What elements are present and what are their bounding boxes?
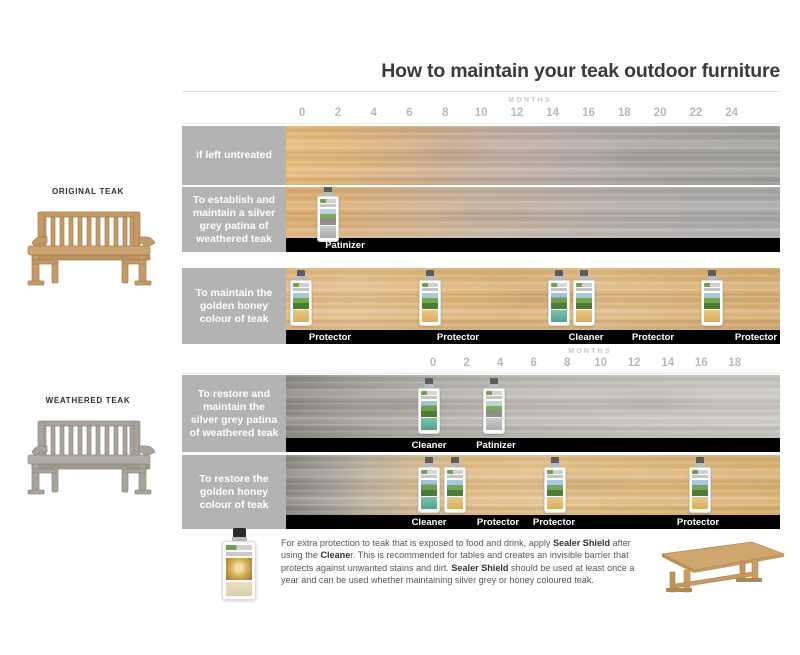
label-photo bbox=[293, 293, 309, 309]
footer-emphasis: Cleane bbox=[320, 550, 350, 560]
label-footer-band bbox=[551, 310, 567, 322]
axis-tick-20: 20 bbox=[654, 107, 667, 119]
label-footer-band bbox=[226, 582, 252, 596]
axis-tick-12: 12 bbox=[628, 357, 641, 369]
label-photo bbox=[551, 293, 567, 309]
row-label-restore-honey: To restore the golden honey colour of te… bbox=[182, 455, 286, 529]
axis-ticks-2: 024681012141618 bbox=[0, 357, 800, 373]
product-bottle-protector-4[interactable] bbox=[701, 270, 723, 330]
product-label-protector-5: Protector bbox=[477, 517, 519, 528]
axis-tick-0: 0 bbox=[299, 107, 305, 119]
product-title-line bbox=[421, 396, 437, 399]
timeline-row-establish-grey: To establish and maintain a silver grey … bbox=[182, 187, 780, 252]
timeline-row-restore-grey: To restore and maintain the silver grey … bbox=[182, 375, 780, 452]
bottle-label bbox=[548, 280, 570, 326]
product-title-line bbox=[320, 204, 336, 207]
product-bottle-protector-3[interactable] bbox=[573, 270, 595, 330]
label-footer-band bbox=[704, 310, 720, 322]
axis-tick-22: 22 bbox=[689, 107, 702, 119]
product-bottle-protector-5[interactable] bbox=[444, 457, 466, 515]
brand-logo-icon bbox=[226, 545, 252, 550]
label-photo bbox=[320, 209, 336, 225]
footer-paragraph: For extra protection to teak that is exp… bbox=[281, 537, 637, 587]
axis-tick-8: 8 bbox=[564, 357, 570, 369]
timeline-row-untreated: if left untreated bbox=[182, 126, 780, 185]
axis-tick-16: 16 bbox=[695, 357, 708, 369]
bottle-label bbox=[444, 467, 466, 513]
wood-strip-restore-honey: Cleaner Protector Protector Protector bbox=[286, 455, 780, 529]
product-title-line bbox=[576, 288, 592, 291]
brand-logo-icon bbox=[421, 391, 437, 395]
axis-rule-1 bbox=[182, 123, 780, 124]
label-photo bbox=[576, 293, 592, 309]
timeline-row-maintain-honey: To maintain the golden honey colour of t… bbox=[182, 268, 780, 344]
footer-emphasis: Sealer Shield bbox=[451, 563, 508, 573]
bottle-label bbox=[689, 467, 711, 513]
axis-tick-2: 2 bbox=[463, 357, 469, 369]
product-bottle-protector-7[interactable] bbox=[689, 457, 711, 515]
bench-image-weathered-teak bbox=[18, 405, 162, 495]
axis-caption-months-1: MONTHS bbox=[440, 97, 620, 104]
axis-tick-6: 6 bbox=[530, 357, 536, 369]
bottle-label bbox=[290, 280, 312, 326]
label-photo bbox=[422, 293, 438, 309]
label-footer-band bbox=[422, 310, 438, 322]
axis-ticks-1: 024681012141618202224 bbox=[0, 107, 800, 123]
product-title-line bbox=[447, 475, 463, 478]
bench-caption-weathered-teak: WEATHERED TEAK bbox=[8, 396, 168, 405]
bottle-label bbox=[418, 388, 440, 434]
product-label-protector-4: Protector bbox=[735, 332, 777, 343]
axis-tick-18: 18 bbox=[618, 107, 631, 119]
label-footer-band bbox=[293, 310, 309, 322]
caption-bar-maintain-honey: Protector Protector Cleaner Protector Pr… bbox=[286, 330, 780, 344]
product-title-line bbox=[486, 396, 502, 399]
label-footer-band bbox=[421, 418, 437, 430]
bench-image-original-teak bbox=[18, 196, 162, 286]
brand-logo-icon bbox=[704, 283, 720, 287]
page-title: How to maintain your teak outdoor furnit… bbox=[350, 60, 780, 83]
label-photo bbox=[486, 401, 502, 417]
row-label-establish-grey: To establish and maintain a silver grey … bbox=[182, 187, 286, 252]
label-photo bbox=[421, 480, 437, 496]
brand-logo-icon bbox=[320, 199, 336, 203]
product-title-line bbox=[293, 288, 309, 291]
axis-tick-16: 16 bbox=[582, 107, 595, 119]
product-label-patinizer-2: Patinizer bbox=[476, 440, 516, 451]
brand-logo-icon bbox=[692, 470, 708, 474]
brand-logo-icon bbox=[422, 283, 438, 287]
bottle-cap-icon bbox=[233, 528, 246, 537]
bottle-label bbox=[701, 280, 723, 326]
brand-logo-icon bbox=[547, 470, 563, 474]
axis-tick-4: 4 bbox=[497, 357, 503, 369]
product-bottle-patinizer[interactable] bbox=[317, 187, 339, 238]
product-title-line bbox=[704, 288, 720, 291]
product-title-line bbox=[551, 288, 567, 291]
axis-tick-18: 18 bbox=[728, 357, 741, 369]
caption-bar-restore-grey: Cleaner Patinizer bbox=[286, 438, 780, 452]
axis-tick-12: 12 bbox=[510, 107, 523, 119]
product-label-protector-6: Protector bbox=[533, 517, 575, 528]
axis-tick-14: 14 bbox=[661, 357, 674, 369]
brand-logo-icon bbox=[486, 391, 502, 395]
timeline-row-restore-honey: To restore the golden honey colour of te… bbox=[182, 455, 780, 529]
product-label-protector-2: Protector bbox=[437, 332, 479, 343]
label-graphic-orb bbox=[226, 558, 252, 580]
product-title-line bbox=[226, 552, 252, 556]
row-label-untreated: if left untreated bbox=[182, 126, 286, 185]
brand-logo-icon bbox=[447, 470, 463, 474]
caption-bar-restore-honey: Cleaner Protector Protector Protector bbox=[286, 515, 780, 529]
axis-tick-10: 10 bbox=[475, 107, 488, 119]
title-divider bbox=[182, 91, 780, 92]
axis-tick-0: 0 bbox=[430, 357, 436, 369]
label-footer-band bbox=[547, 497, 563, 509]
product-label-protector-3: Protector bbox=[632, 332, 674, 343]
label-photo bbox=[421, 401, 437, 417]
footer-emphasis: Sealer Shield bbox=[553, 538, 610, 548]
product-label-protector-7: Protector bbox=[677, 517, 719, 528]
axis-caption-months-2: MONTHS bbox=[500, 348, 680, 355]
axis-tick-4: 4 bbox=[370, 107, 376, 119]
product-bottle-patinizer-2[interactable] bbox=[483, 378, 505, 438]
wood-strip-maintain-honey: Protector Protector Cleaner Protector Pr… bbox=[286, 268, 780, 344]
label-photo bbox=[704, 293, 720, 309]
axis-tick-24: 24 bbox=[725, 107, 738, 119]
brand-logo-icon bbox=[551, 283, 567, 287]
label-footer-band bbox=[576, 310, 592, 322]
label-footer-band bbox=[447, 497, 463, 509]
wood-strip-restore-grey: Cleaner Patinizer bbox=[286, 375, 780, 452]
product-bottle-cleaner-1[interactable] bbox=[548, 270, 570, 330]
product-bottle-protector-6[interactable] bbox=[544, 457, 566, 515]
wood-strip-establish-grey: Patinizer bbox=[286, 187, 780, 252]
bottle-label bbox=[573, 280, 595, 326]
bottle-label bbox=[222, 541, 256, 600]
axis-tick-10: 10 bbox=[594, 357, 607, 369]
axis-tick-14: 14 bbox=[546, 107, 559, 119]
axis-rule-2 bbox=[182, 373, 780, 374]
product-bottle-sealer-shield[interactable] bbox=[222, 528, 256, 600]
label-footer-band bbox=[486, 418, 502, 430]
product-label-cleaner-2: Cleaner bbox=[412, 440, 447, 451]
bottle-label bbox=[483, 388, 505, 434]
product-bottle-protector-2[interactable] bbox=[419, 270, 441, 330]
product-bottle-cleaner-3[interactable] bbox=[418, 457, 440, 515]
wood-strip-untreated bbox=[286, 126, 780, 185]
bottle-label bbox=[544, 467, 566, 513]
table-image-teak-dining-table bbox=[648, 532, 788, 599]
bottle-label bbox=[419, 280, 441, 326]
brand-logo-icon bbox=[576, 283, 592, 287]
bottle-label bbox=[418, 467, 440, 513]
label-footer-band bbox=[692, 497, 708, 509]
row-label-restore-grey: To restore and maintain the silver grey … bbox=[182, 375, 286, 452]
product-title-line bbox=[421, 475, 437, 478]
brand-logo-icon bbox=[421, 470, 437, 474]
caption-bar-establish-grey: Patinizer bbox=[286, 238, 780, 252]
product-title-line bbox=[692, 475, 708, 478]
label-footer-band bbox=[421, 497, 437, 509]
label-photo bbox=[547, 480, 563, 496]
row-label-maintain-honey: To maintain the golden honey colour of t… bbox=[182, 268, 286, 344]
brand-logo-icon bbox=[293, 283, 309, 287]
axis-tick-6: 6 bbox=[406, 107, 412, 119]
bench-caption-original-teak: ORIGINAL TEAK bbox=[8, 187, 168, 196]
product-title-line bbox=[547, 475, 563, 478]
label-photo bbox=[692, 480, 708, 496]
axis-tick-8: 8 bbox=[442, 107, 448, 119]
product-label-protector-1: Protector bbox=[309, 332, 351, 343]
product-bottle-cleaner-2[interactable] bbox=[418, 378, 440, 438]
product-bottle-protector-1[interactable] bbox=[290, 270, 312, 330]
label-photo bbox=[447, 480, 463, 496]
axis-tick-2: 2 bbox=[335, 107, 341, 119]
bottle-label bbox=[317, 196, 339, 242]
label-footer-band bbox=[320, 226, 336, 238]
product-title-line bbox=[422, 288, 438, 291]
product-label-cleaner-1: Cleaner bbox=[569, 332, 604, 343]
product-label-cleaner-3: Cleaner bbox=[412, 517, 447, 528]
